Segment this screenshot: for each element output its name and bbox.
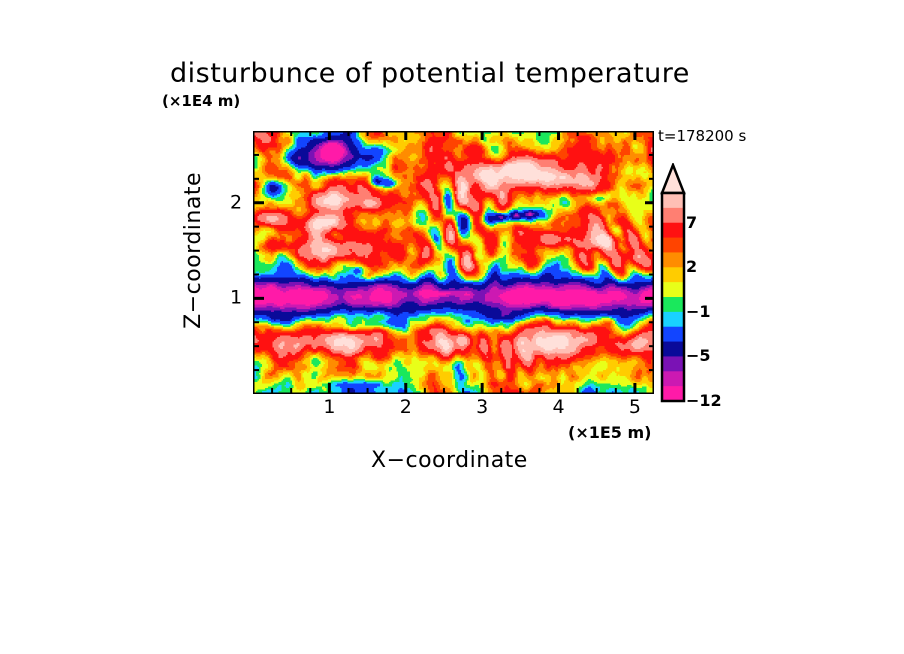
figure-canvas: disturbunce of potential temperature (×1… (0, 0, 904, 654)
contour-plot (253, 131, 654, 394)
colorbar-tick-label: −1 (686, 304, 711, 320)
colorbar (660, 163, 686, 405)
x-tick-label: 3 (476, 398, 488, 417)
y-axis-title: Z−coordinate (183, 172, 205, 329)
y-tick-label: 2 (230, 193, 242, 212)
colorbar-tick-label: 7 (686, 215, 697, 231)
x-axis-unit-label: (×1E5 m) (568, 425, 651, 441)
x-tick-label: 1 (323, 398, 335, 417)
x-tick-label: 2 (400, 398, 412, 417)
colorbar-tick-label: −12 (686, 393, 722, 409)
z-axis-unit-label: (×1E4 m) (162, 94, 240, 109)
x-tick-label: 4 (552, 398, 564, 417)
y-tick-label: 1 (230, 289, 242, 308)
colorbar-tick-label: 2 (686, 259, 697, 275)
x-tick-label: 5 (629, 398, 641, 417)
x-axis-title: X−coordinate (371, 450, 528, 472)
time-annotation: t=178200 s (658, 129, 746, 144)
colorbar-tick-label: −5 (686, 348, 711, 364)
page-title: disturbunce of potential temperature (170, 60, 690, 87)
